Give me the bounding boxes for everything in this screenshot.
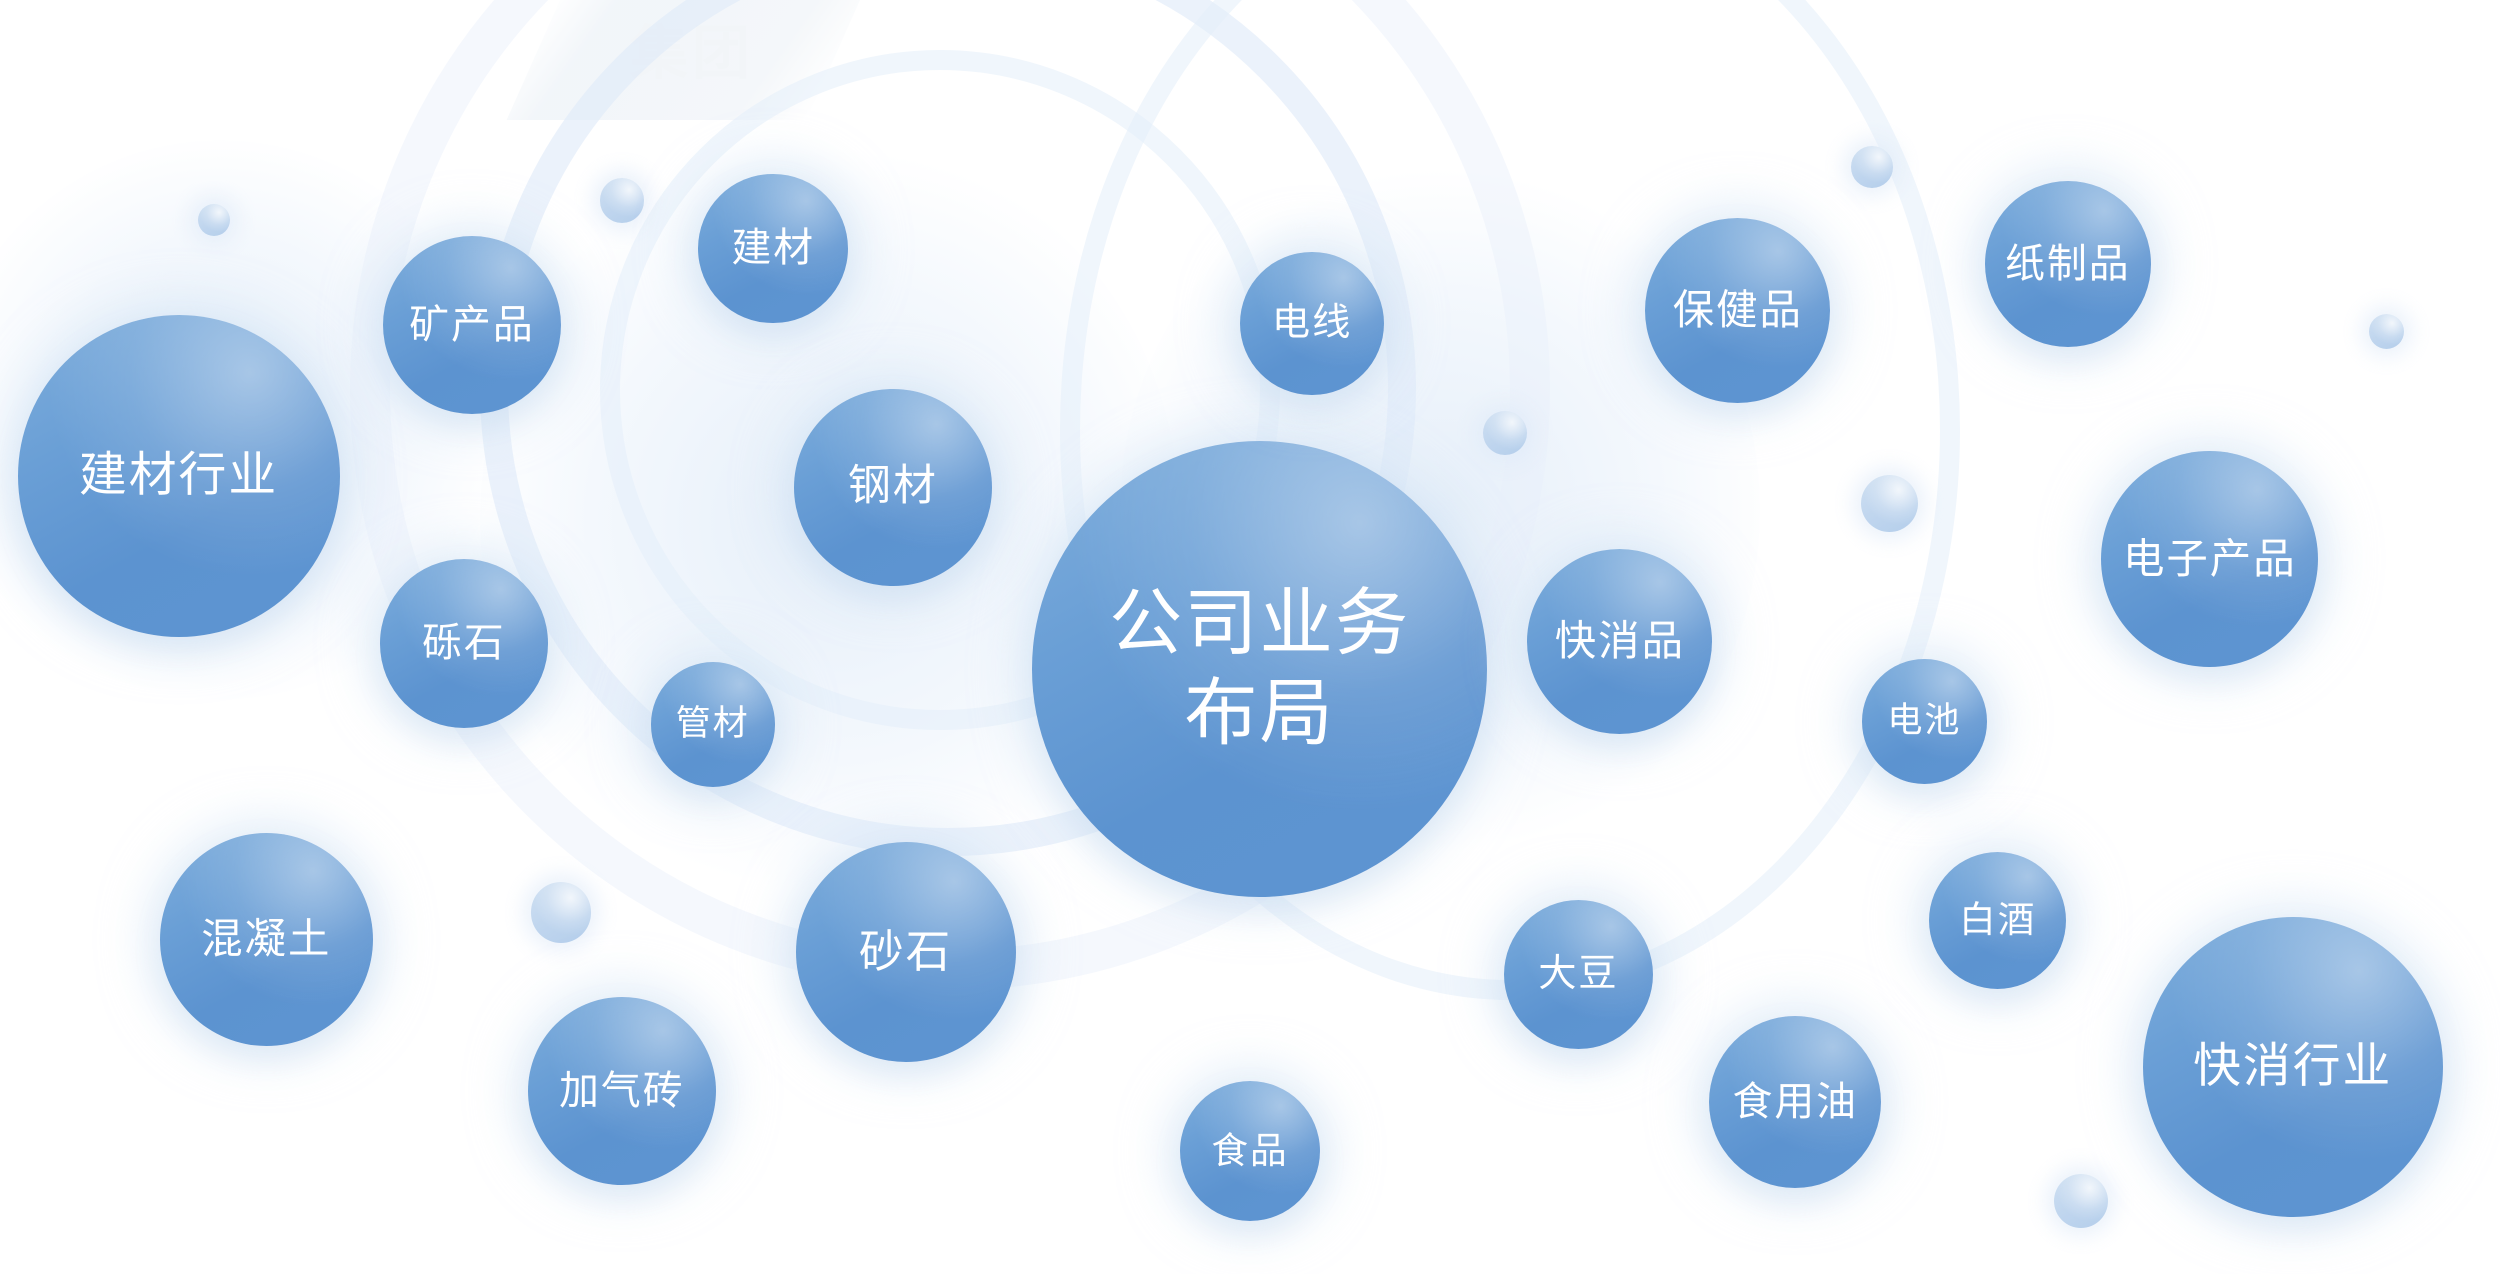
- product-bubble[interactable]: 保健品: [1645, 218, 1830, 403]
- bubble-label: 电池: [1881, 700, 1967, 743]
- bubble-label: 管材: [670, 703, 756, 746]
- decorative-dot: [1861, 475, 1918, 532]
- decorative-dot: [1483, 411, 1528, 456]
- decorative-dot: [600, 178, 645, 223]
- center-bubble[interactable]: 公司业务 布局: [1032, 441, 1488, 897]
- product-bubble[interactable]: 加气砖: [528, 997, 716, 1185]
- bubble-label: 矿产品: [403, 301, 540, 350]
- watermark-text: 集团: [630, 6, 754, 90]
- bubble-label: 食品: [1205, 1129, 1294, 1174]
- product-bubble[interactable]: 管材: [651, 662, 775, 786]
- product-bubble[interactable]: 电线: [1240, 252, 1383, 395]
- bubble-label: 电线: [1266, 300, 1358, 347]
- product-bubble[interactable]: 大豆: [1504, 900, 1654, 1050]
- watermark-band: [507, 0, 874, 120]
- bubble-label: 纸制品: [1999, 240, 2136, 289]
- bubble-label: 砂石: [853, 925, 958, 979]
- bubble-label: 快消品: [1549, 616, 1691, 667]
- product-bubble[interactable]: 钢材: [794, 389, 992, 587]
- product-bubble[interactable]: 电池: [1862, 659, 1986, 783]
- product-bubble[interactable]: 混凝土: [160, 833, 374, 1047]
- industry-bubble[interactable]: 建材行业: [18, 315, 340, 637]
- bubble-label: 快消行业: [2187, 1038, 2398, 1096]
- bubble-label: 建材行业: [73, 447, 284, 505]
- product-bubble[interactable]: 矿产品: [383, 236, 561, 414]
- product-bubble[interactable]: 食用油: [1709, 1016, 1881, 1188]
- bubble-label: 混凝土: [195, 914, 337, 965]
- bubble-label: 保健品: [1667, 285, 1809, 336]
- bubble-label: 砾石: [416, 619, 512, 668]
- product-bubble[interactable]: 建材: [698, 174, 848, 324]
- product-bubble[interactable]: 食品: [1180, 1081, 1320, 1221]
- product-bubble[interactable]: 纸制品: [1985, 181, 2151, 347]
- decorative-dot: [2369, 314, 2404, 349]
- bubble-label: 白酒: [1953, 898, 2042, 943]
- bubble-label: 加气砖: [553, 1067, 690, 1116]
- bubble-label: 电子产品: [2117, 534, 2303, 585]
- bubble-label: 建材: [725, 224, 821, 273]
- product-bubble[interactable]: 电子产品: [2101, 451, 2318, 668]
- bubble-label: 大豆: [1532, 951, 1624, 998]
- product-bubble[interactable]: 砾石: [380, 559, 549, 728]
- decorative-dot: [1851, 146, 1892, 187]
- decorative-dot: [198, 204, 230, 236]
- decorative-dot: [531, 882, 592, 943]
- decorative-dot: [2054, 1174, 2108, 1228]
- bubble-label: 公司业务 布局: [1103, 579, 1416, 758]
- bubble-label: 食用油: [1727, 1078, 1864, 1127]
- product-bubble[interactable]: 快消品: [1527, 549, 1712, 734]
- product-bubble[interactable]: 白酒: [1929, 852, 2066, 989]
- industry-bubble[interactable]: 快消行业: [2143, 917, 2443, 1217]
- bubble-label: 钢材: [842, 461, 944, 513]
- product-bubble[interactable]: 砂石: [796, 842, 1016, 1062]
- bubble-diagram-canvas: 集团 建材行业快消行业公司业务 布局矿产品建材砾石管材混凝土加气砖砂石钢材食品电…: [0, 0, 2500, 1274]
